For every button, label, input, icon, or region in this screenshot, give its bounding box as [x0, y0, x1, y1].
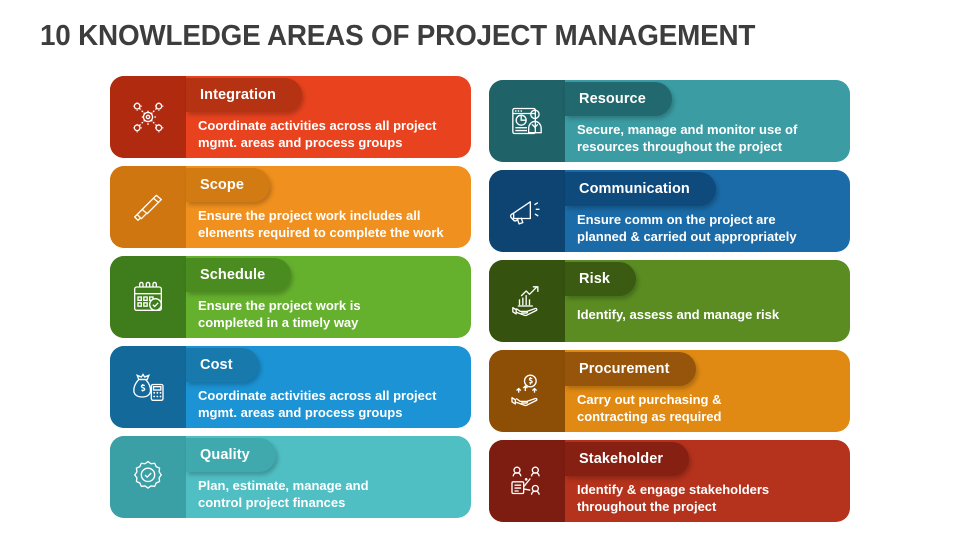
- desc-line: Ensure the project work includes all: [198, 207, 457, 224]
- stakeholder-network-icon: [507, 461, 547, 501]
- card-risk[interactable]: Risk Identify, assess and manage risk: [489, 260, 850, 342]
- calendar-check-icon: [128, 277, 168, 317]
- icon-panel: [489, 260, 565, 342]
- card-description: Secure, manage and monitor use of resour…: [577, 120, 836, 156]
- card-procurement[interactable]: Procurement Carry out purchasing & contr…: [489, 350, 850, 432]
- card-title-pill: Risk: [565, 262, 636, 296]
- card-title: Integration: [200, 87, 276, 103]
- card-title: Procurement: [579, 361, 670, 377]
- card-integration[interactable]: Integration Coordinate activities across…: [110, 76, 471, 158]
- card-title: Quality: [200, 447, 250, 463]
- card-title-pill: Procurement: [565, 352, 696, 386]
- risk-chart-hand-icon: [507, 281, 547, 321]
- icon-panel: [110, 76, 186, 158]
- desc-line: Identify & engage stakeholders: [577, 481, 836, 498]
- money-bag-calculator-icon: [128, 367, 168, 407]
- card-title: Scope: [200, 177, 244, 193]
- card-description: Identify, assess and manage risk: [577, 294, 836, 336]
- icon-panel: [489, 350, 565, 432]
- card-title: Communication: [579, 181, 690, 197]
- card-title: Stakeholder: [579, 451, 663, 467]
- desc-line: Coordinate activities across all project: [198, 117, 457, 134]
- page-title: 10 Knowledge Areas of Project Management: [40, 20, 755, 53]
- card-description: Coordinate activities across all project…: [198, 386, 457, 422]
- desc-line: Identify, assess and manage risk: [577, 306, 836, 323]
- card-description: Identify & engage stakeholders throughou…: [577, 480, 836, 516]
- card-title: Risk: [579, 271, 610, 287]
- desc-line: contracting as required: [577, 408, 836, 425]
- desc-line: mgmt. areas and process groups: [198, 404, 457, 421]
- card-description: Carry out purchasing & contracting as re…: [577, 390, 836, 426]
- icon-panel: [489, 440, 565, 522]
- card-cost[interactable]: Cost Coordinate activities across all pr…: [110, 346, 471, 428]
- icon-panel: [489, 170, 565, 252]
- desc-line: Secure, manage and monitor use of: [577, 121, 836, 138]
- card-title-pill: Resource: [565, 82, 672, 116]
- card-communication[interactable]: Communication Ensure comm on the project…: [489, 170, 850, 252]
- card-stakeholder[interactable]: Stakeholder Identify & engage stakeholde…: [489, 440, 850, 522]
- slide-canvas: 10 Knowledge Areas of Project Management: [0, 0, 960, 540]
- resource-dashboard-icon: [507, 101, 547, 141]
- desc-line: Carry out purchasing &: [577, 391, 836, 408]
- card-title-pill: Integration: [186, 78, 302, 112]
- desc-line: elements required to complete the work: [198, 224, 457, 241]
- desc-line: resources throughout the project: [577, 138, 836, 155]
- card-title-pill: Schedule: [186, 258, 291, 292]
- desc-line: throughout the project: [577, 498, 836, 515]
- quality-seal-icon: [128, 457, 168, 497]
- desc-line: planned & carried out appropriately: [577, 228, 836, 245]
- card-title-pill: Cost: [186, 348, 259, 382]
- card-resource[interactable]: Resource Secure, manage and monitor use …: [489, 80, 850, 162]
- card-title: Schedule: [200, 267, 265, 283]
- knowledge-areas-grid: Integration Coordinate activities across…: [110, 76, 850, 522]
- desc-line: completed in a timely way: [198, 314, 457, 331]
- left-column: Integration Coordinate activities across…: [110, 76, 471, 526]
- right-column: Resource Secure, manage and monitor use …: [489, 80, 850, 530]
- icon-panel: [110, 166, 186, 248]
- card-description: Ensure the project work includes all ele…: [198, 206, 457, 242]
- card-quality[interactable]: Quality Plan, estimate, manage and contr…: [110, 436, 471, 518]
- card-description: Plan, estimate, manage and control proje…: [198, 476, 457, 512]
- desc-line: Ensure the project work is: [198, 297, 457, 314]
- card-title-pill: Stakeholder: [565, 442, 689, 476]
- card-description: Ensure comm on the project are planned &…: [577, 210, 836, 246]
- desc-line: control project finances: [198, 494, 457, 511]
- card-title: Cost: [200, 357, 233, 373]
- telescope-icon: [128, 187, 168, 227]
- card-title-pill: Scope: [186, 168, 270, 202]
- desc-line: Plan, estimate, manage and: [198, 477, 457, 494]
- icon-panel: [110, 436, 186, 518]
- card-title-pill: Communication: [565, 172, 716, 206]
- desc-line: mgmt. areas and process groups: [198, 134, 457, 151]
- card-title-pill: Quality: [186, 438, 276, 472]
- megaphone-icon: [507, 191, 547, 231]
- money-hand-icon: [507, 371, 547, 411]
- desc-line: Ensure comm on the project are: [577, 211, 836, 228]
- desc-line: Coordinate activities across all project: [198, 387, 457, 404]
- card-schedule[interactable]: Schedule Ensure the project work is comp…: [110, 256, 471, 338]
- card-scope[interactable]: Scope Ensure the project work includes a…: [110, 166, 471, 248]
- card-description: Ensure the project work is completed in …: [198, 296, 457, 332]
- icon-panel: [110, 346, 186, 428]
- icon-panel: [489, 80, 565, 162]
- gear-network-icon: [128, 97, 168, 137]
- card-title: Resource: [579, 91, 646, 107]
- icon-panel: [110, 256, 186, 338]
- card-description: Coordinate activities across all project…: [198, 116, 457, 152]
